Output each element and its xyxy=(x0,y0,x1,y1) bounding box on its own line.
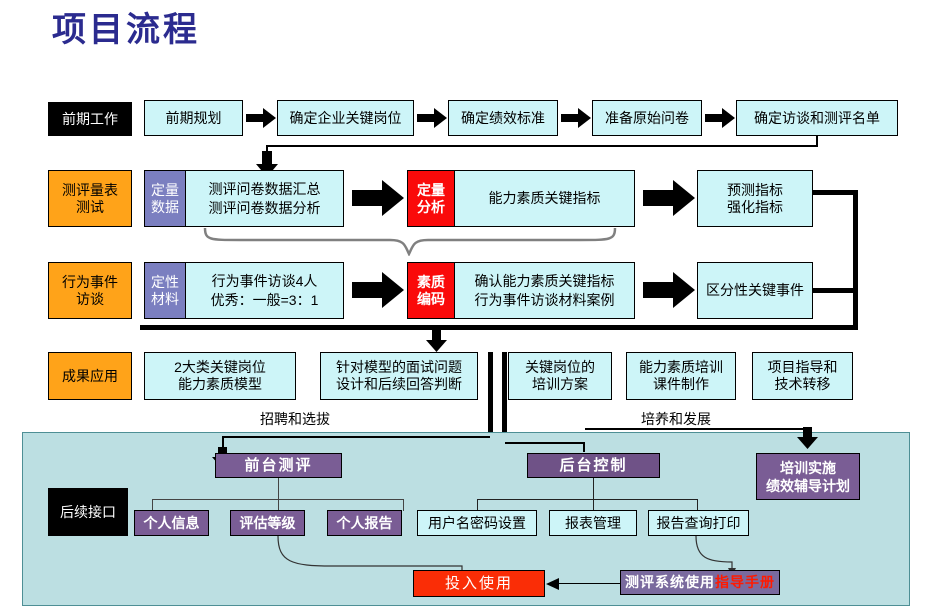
row1-step-5[interactable]: 确定访谈和测评名单 xyxy=(736,100,898,136)
stage-label-results: 成果应用 xyxy=(48,352,132,400)
stage-label-scale-test: 测评量表 测试 xyxy=(48,170,132,227)
backend-stem-v xyxy=(593,478,594,500)
stage-label-followup: 后续接口 xyxy=(48,488,128,536)
row3-output[interactable]: 区分性关键事件 xyxy=(697,262,813,319)
row2-output[interactable]: 预测指标 强化指标 xyxy=(697,170,813,227)
page-title: 项目流程 xyxy=(52,8,200,52)
curve-backend-to-manual xyxy=(680,536,760,574)
backend-child-2[interactable]: 报表管理 xyxy=(549,510,637,536)
stage-label-preparation: 前期工作 xyxy=(48,102,132,136)
group-label-development: 培养和发展 xyxy=(641,409,711,429)
arrow-down-to-row4 xyxy=(426,330,447,352)
brace-row2-to-row3 xyxy=(200,226,620,256)
manual-to-deploy-arrowhead xyxy=(546,578,560,590)
row2-process-tag: 定量 分析 xyxy=(407,170,455,227)
frontend-header[interactable]: 前台测评 xyxy=(215,453,342,478)
frontend-child-1[interactable]: 个人信息 xyxy=(134,510,209,536)
frontend-branch-v3 xyxy=(403,499,404,511)
row2-input-group[interactable]: 定量 数据 测评问卷数据汇总 测评问卷数据分析 xyxy=(144,170,344,227)
arrow-row2-1 xyxy=(352,180,404,216)
deploy-box[interactable]: 投入使用 xyxy=(413,570,545,597)
backend-child-1[interactable]: 用户名密码设置 xyxy=(417,510,537,536)
bracket-seg-mid xyxy=(813,288,858,293)
manual-to-deploy-line xyxy=(556,583,620,584)
row3-process-tag: 素质 编码 xyxy=(407,262,455,319)
row1-step-4[interactable]: 准备原始问卷 xyxy=(592,100,702,136)
flowchart-canvas: 项目流程 前期工作 前期规划 确定企业关键岗位 确定绩效标准 准备原始问卷 确定… xyxy=(0,0,932,614)
row1-step-3[interactable]: 确定绩效标准 xyxy=(448,100,558,136)
frontend-child-3[interactable]: 个人报告 xyxy=(327,510,402,536)
row1-step-1[interactable]: 前期规划 xyxy=(144,100,243,136)
row4-item-1[interactable]: 2大类关键岗位 能力素质模型 xyxy=(144,352,296,400)
arrow-to-training xyxy=(797,427,818,449)
row4-item-3[interactable]: 关键岗位的 培训方案 xyxy=(508,352,612,400)
backend-header[interactable]: 后台控制 xyxy=(527,453,660,478)
row3-process-group[interactable]: 素质 编码 确认能力素质关键指标 行为事件访谈材料案例 xyxy=(407,262,635,319)
bracket-seg-top xyxy=(813,190,858,195)
panel-route-left-h xyxy=(222,436,490,438)
training-plan-box[interactable]: 培训实施 绩效辅导计划 xyxy=(756,453,860,500)
row3-process-body: 确认能力素质关键指标 行为事件访谈材料案例 xyxy=(455,262,635,319)
row2-input-tag: 定量 数据 xyxy=(144,170,186,227)
bracket-seg-vert xyxy=(853,190,858,330)
arrow-row2-2 xyxy=(643,180,695,216)
backend-branch-h xyxy=(477,499,698,500)
manual-box[interactable]: 测评系统使用指导手册 xyxy=(620,570,780,595)
frontend-stem-v xyxy=(278,478,279,500)
arrow-row3-1 xyxy=(352,272,404,308)
panel-route-right-h xyxy=(505,442,584,444)
connector-row1-to-row2-h xyxy=(267,145,818,147)
row2-input-body: 测评问卷数据汇总 测评问卷数据分析 xyxy=(186,170,344,227)
row4-item-2[interactable]: 针对模型的面试问题 设计和后续回答判断 xyxy=(320,352,478,400)
row2-process-group[interactable]: 定量 分析 能力素质关键指标 xyxy=(407,170,635,227)
drop-development-v xyxy=(502,352,507,432)
row3-input-group[interactable]: 定性 材料 行为事件访谈4人 优秀：一般=3：1 xyxy=(144,262,344,319)
arrow-row1-2 xyxy=(417,108,447,128)
bracket-seg-bottom xyxy=(140,325,858,330)
row2-process-body: 能力素质关键指标 xyxy=(455,170,635,227)
arrow-row3-2 xyxy=(643,272,695,308)
group-label-recruiting: 招聘和选拔 xyxy=(260,409,330,429)
panel-route-right-v xyxy=(583,442,585,452)
backend-child-3[interactable]: 报告查询打印 xyxy=(648,510,749,536)
arrow-row1-1 xyxy=(246,108,276,128)
frontend-child-2[interactable]: 评估等级 xyxy=(230,510,305,536)
arrow-row1-4 xyxy=(705,108,735,128)
row3-input-body: 行为事件访谈4人 优秀：一般=3：1 xyxy=(186,262,344,319)
manual-highlight-text: 指导手册 xyxy=(715,574,775,591)
row4-item-5[interactable]: 项目指导和 技术转移 xyxy=(752,352,853,400)
row1-step-2[interactable]: 确定企业关键岗位 xyxy=(277,100,414,136)
row3-input-tag: 定性 材料 xyxy=(144,262,186,319)
manual-prefix-text: 测评系统使用 xyxy=(625,574,715,591)
panel-route-training-h xyxy=(585,428,811,430)
stage-label-bei: 行为事件 访谈 xyxy=(48,262,132,319)
arrow-row1-3 xyxy=(561,108,591,128)
row4-item-4[interactable]: 能力素质培训 课件制作 xyxy=(626,352,736,400)
drop-recruiting-v xyxy=(488,352,493,432)
